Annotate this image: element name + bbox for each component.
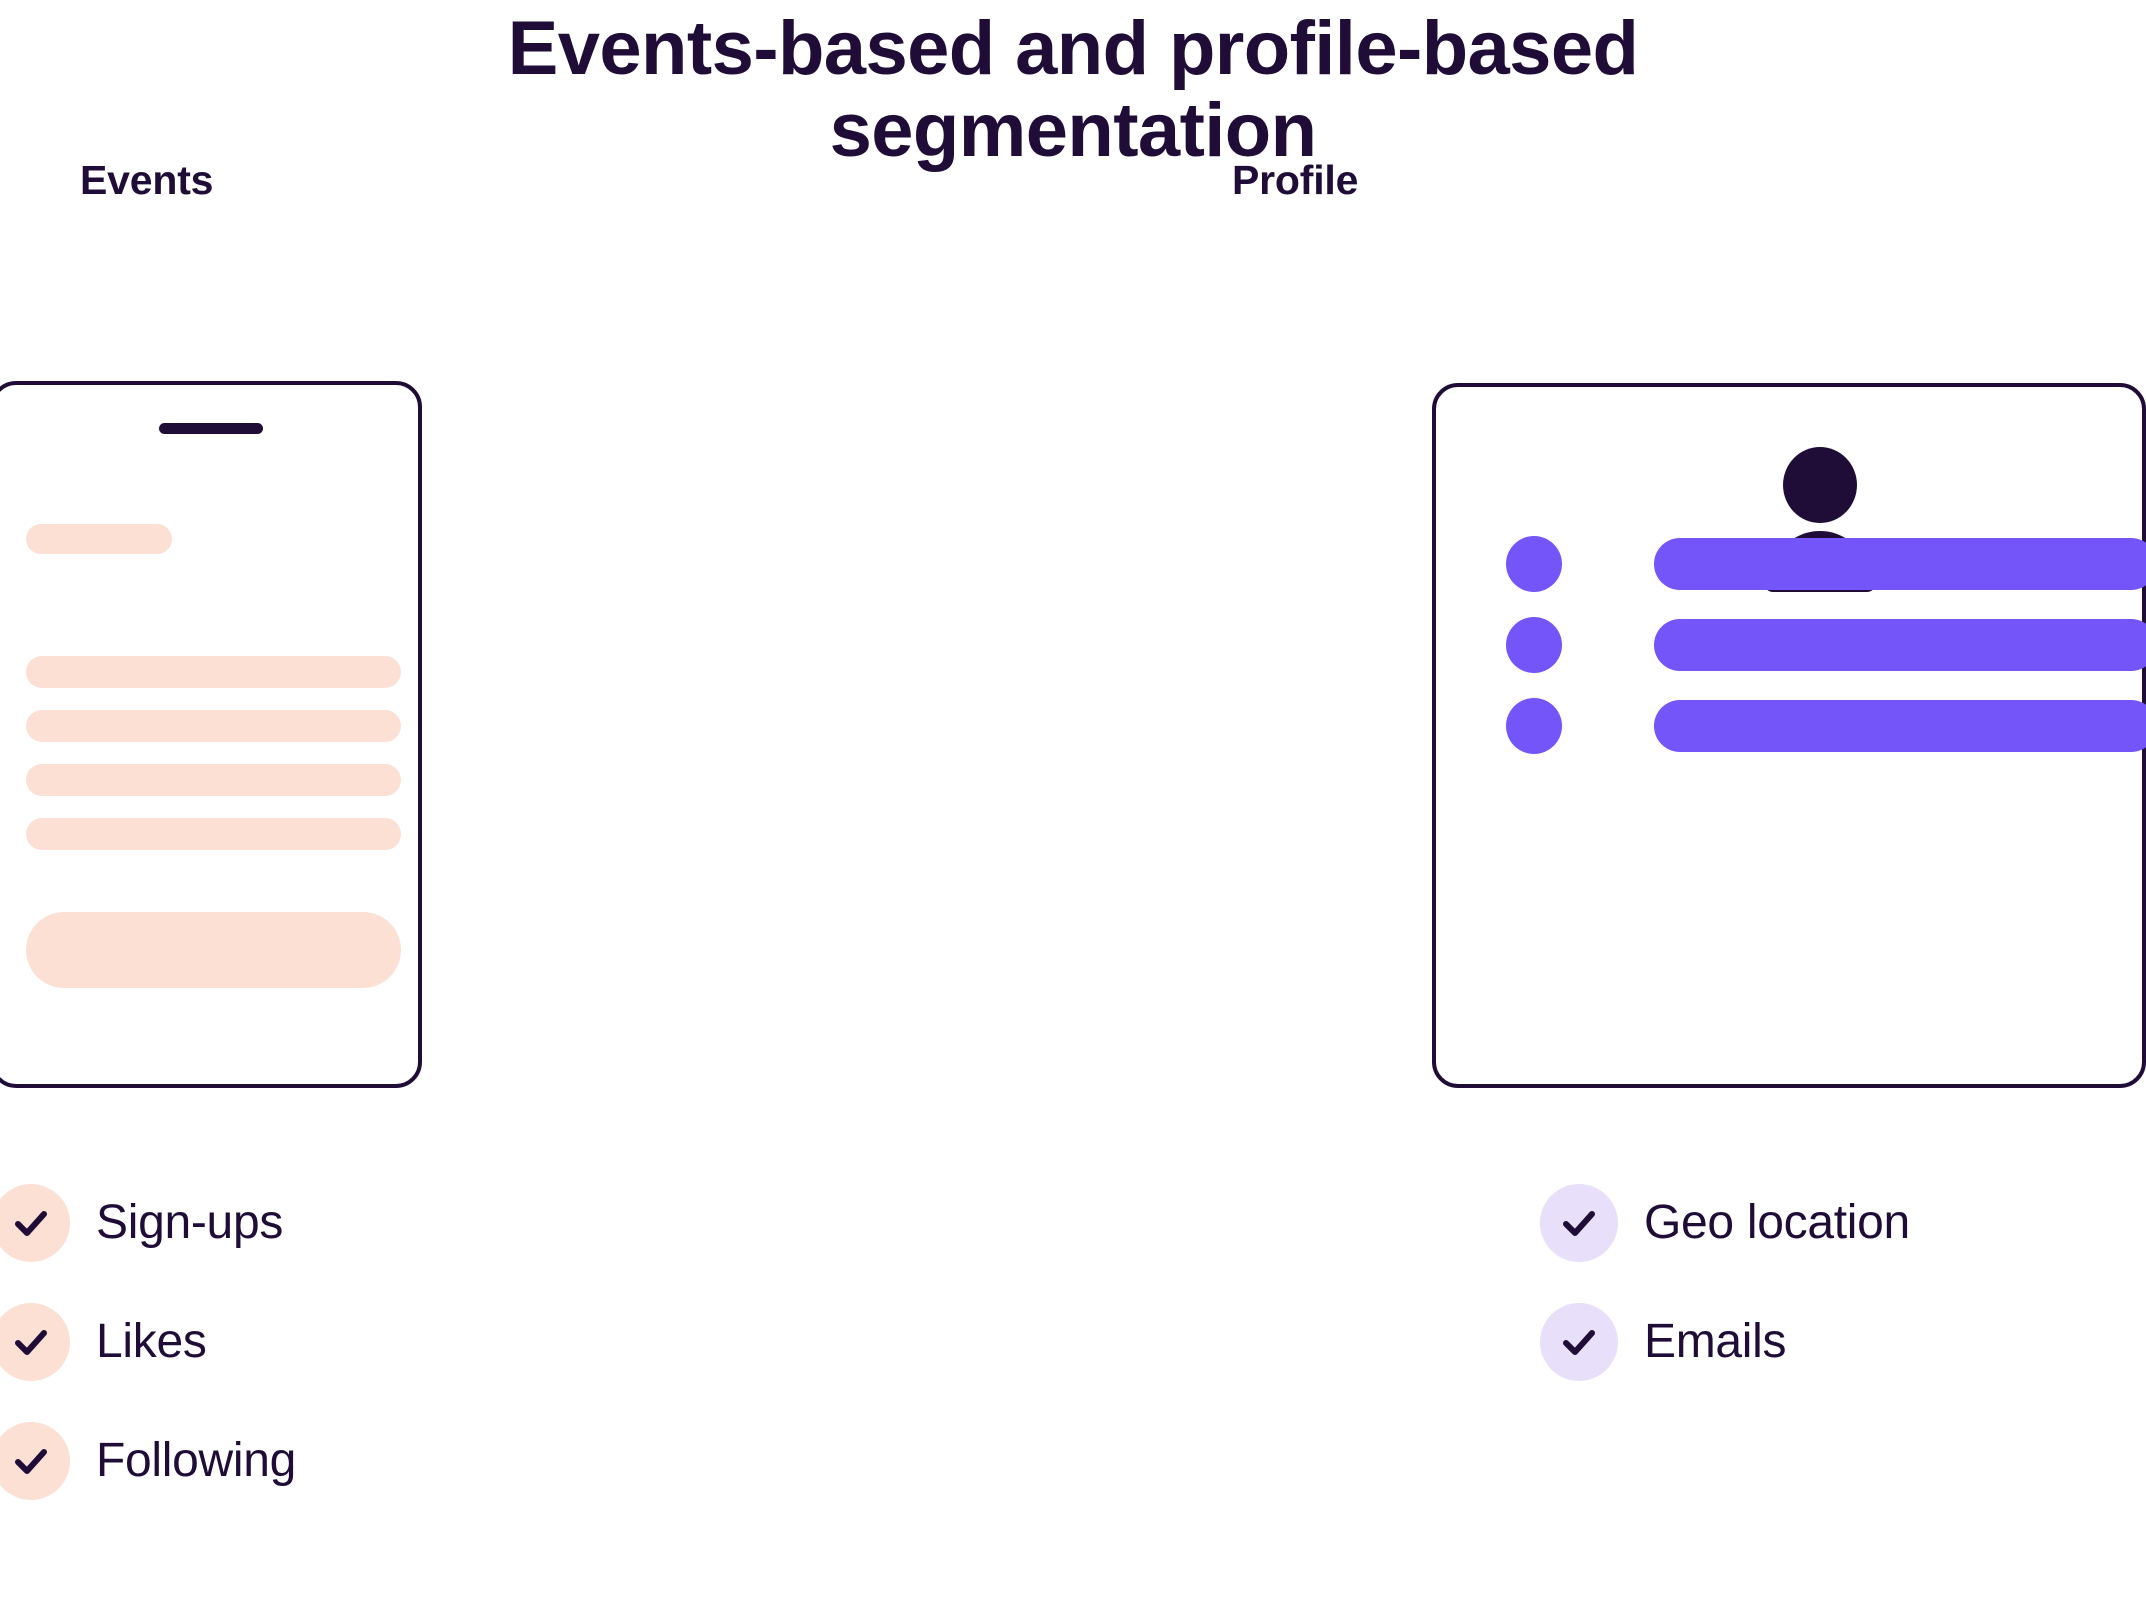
page-title-line-1: Events-based and profile-based [0,8,2146,90]
profile-bullet-icon-2 [1506,617,1562,673]
check-icon [8,1319,54,1365]
events-checklist: Sign-ups Likes Following [0,1163,296,1520]
check-icon [8,1438,54,1484]
page-title: Events-based and profile-based segmentat… [0,8,2146,172]
checklist-label-geo-location: Geo location [1644,1195,1910,1250]
profile-column-caption: Profile [1232,157,1358,204]
phone-placeholder-list-bar-2 [26,710,401,742]
phone-notch-icon [159,423,263,434]
phone-placeholder-list-bar-3 [26,764,401,796]
phone-placeholder-list-bar-1 [26,656,401,688]
profile-attribute-bar-1 [1654,538,2146,590]
profile-bullet-icon-3 [1506,698,1562,754]
profile-checklist: Geo location Emails [1540,1163,1910,1401]
profile-attribute-bar-2 [1654,619,2146,671]
list-item: Geo location [1540,1163,1910,1282]
page-title-line-2: segmentation [0,90,2146,172]
check-badge-emails [1540,1303,1618,1381]
checklist-label-likes: Likes [96,1314,207,1369]
phone-placeholder-list-bar-4 [26,818,401,850]
check-icon [1556,1200,1602,1246]
phone-placeholder-title-bar [26,524,172,554]
events-phone-card [0,381,422,1088]
checklist-label-sign-ups: Sign-ups [96,1195,283,1250]
check-icon [8,1200,54,1246]
check-badge-following [0,1422,70,1500]
list-item: Sign-ups [0,1163,296,1282]
events-column-caption: Events [80,157,213,204]
list-item: Likes [0,1282,296,1401]
list-item: Emails [1540,1282,1910,1401]
check-badge-geo-location [1540,1184,1618,1262]
phone-placeholder-block-bar [26,912,401,988]
checklist-label-following: Following [96,1433,296,1488]
check-badge-likes [0,1303,70,1381]
check-icon [1556,1319,1602,1365]
diagram-canvas: Events-based and profile-based segmentat… [0,0,2146,1600]
profile-attribute-bar-3 [1654,700,2146,752]
profile-card [1432,383,2146,1088]
checklist-label-emails: Emails [1644,1314,1786,1369]
check-badge-sign-ups [0,1184,70,1262]
profile-bullet-icon-1 [1506,536,1562,592]
list-item: Following [0,1401,296,1520]
